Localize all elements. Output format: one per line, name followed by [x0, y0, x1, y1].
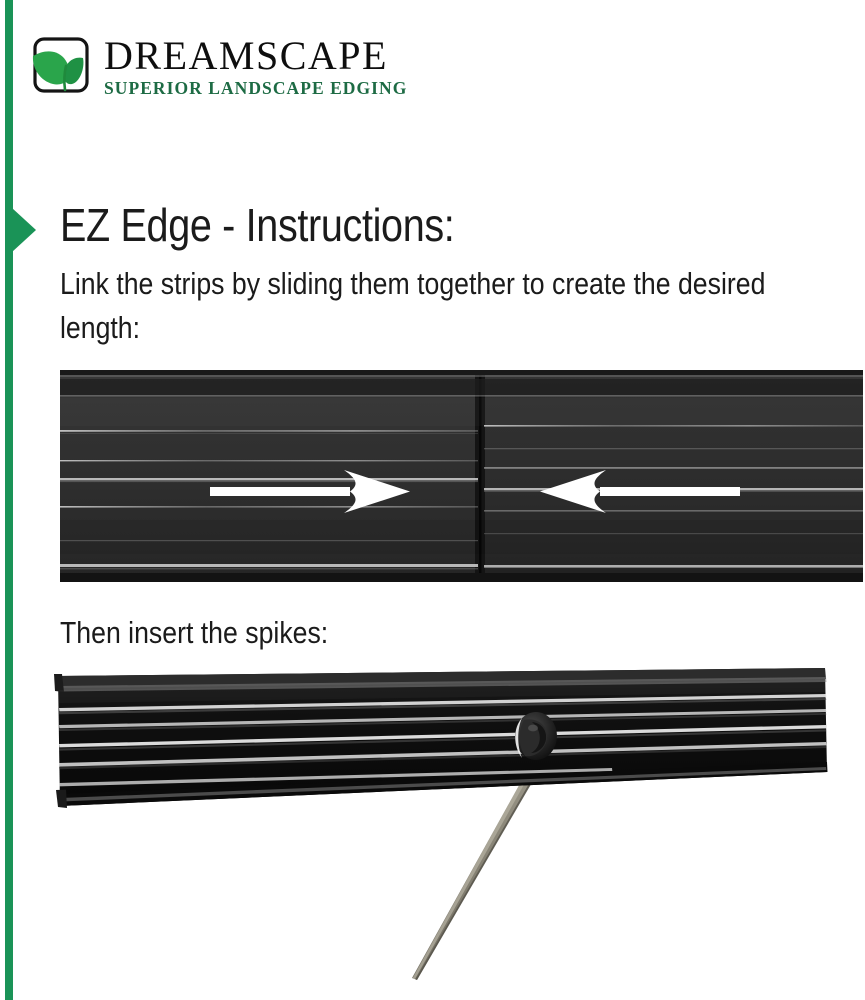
spike-hole [515, 712, 557, 760]
brand-wordmark: DREAMSCAPE SUPERIOR LANDSCAPE EDGING [104, 34, 407, 98]
linking-strips-photo [60, 370, 863, 582]
brand-logo: DREAMSCAPE SUPERIOR LANDSCAPE EDGING [30, 34, 407, 98]
triangle-right-icon [12, 208, 36, 252]
two-leaves-in-rounded-square-icon [30, 34, 92, 96]
edging-strip [54, 668, 828, 808]
spike-insertion-photo [52, 662, 852, 998]
step-two-instruction-text: Then insert the spikes: [60, 613, 328, 653]
metal-spike [412, 780, 532, 980]
brand-name: DREAMSCAPE [104, 36, 407, 76]
brand-tagline: SUPERIOR LANDSCAPE EDGING [104, 78, 407, 98]
left-green-rail [5, 0, 13, 1000]
page-title: EZ Edge - Instructions: [60, 198, 454, 252]
intro-instruction-text: Link the strips by sliding them together… [60, 262, 817, 350]
